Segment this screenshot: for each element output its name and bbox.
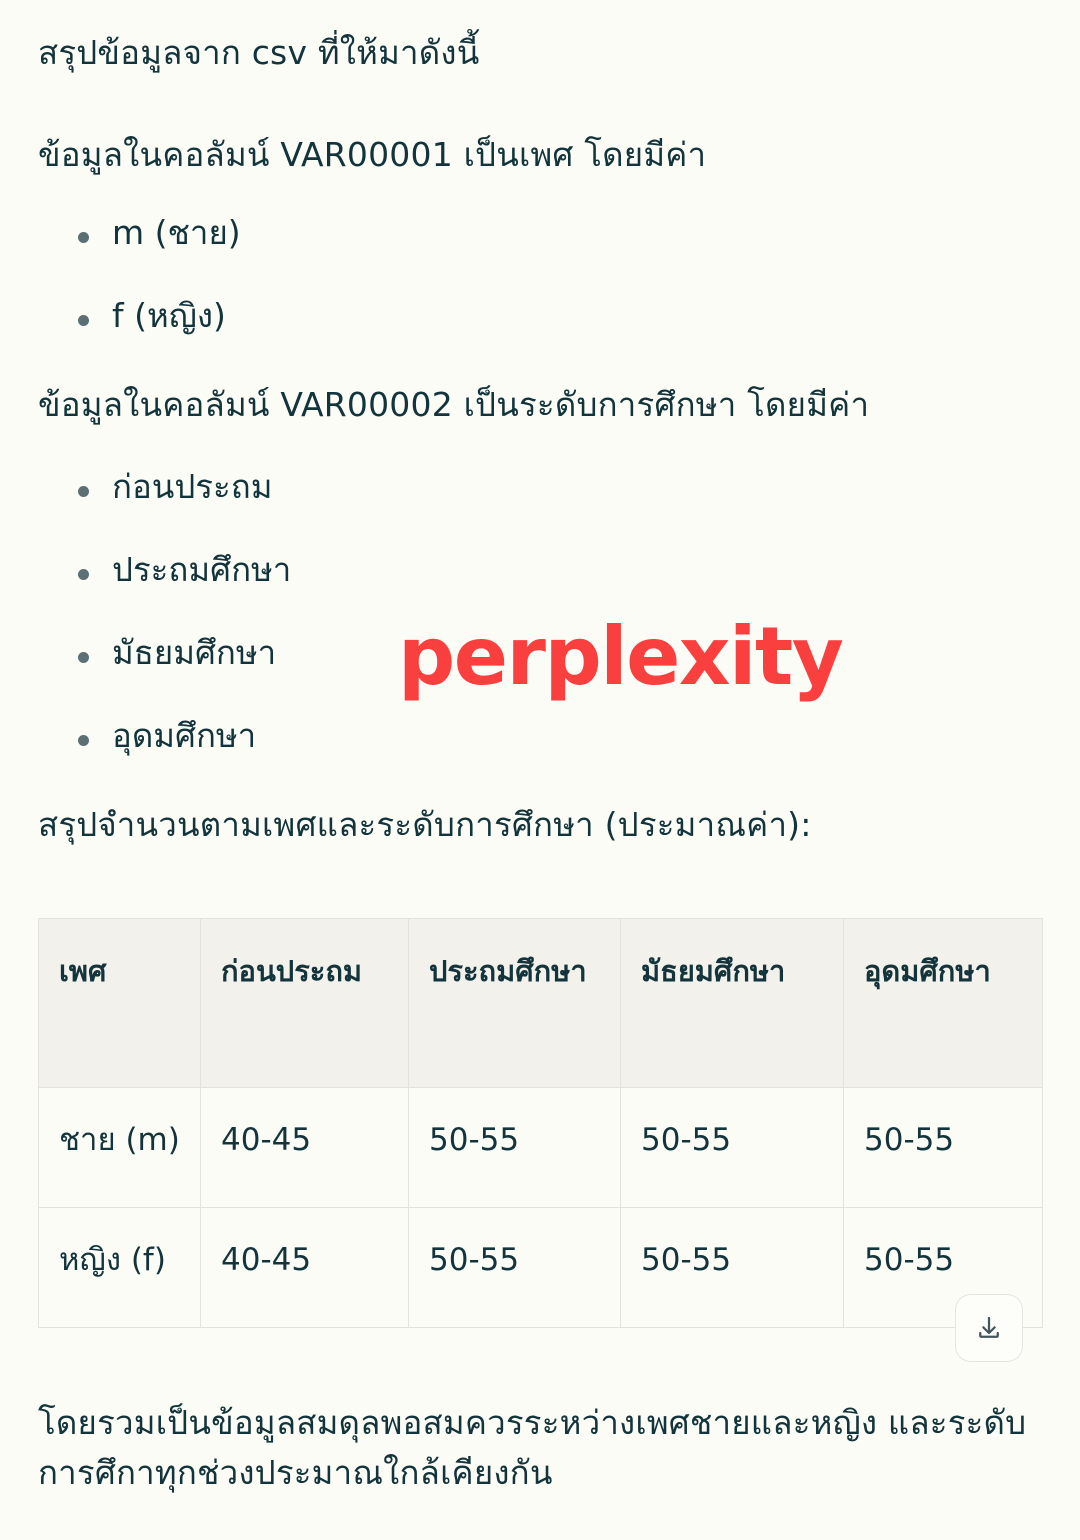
education-values-list: ก่อนประถม ประถมศึกษา มัธยมศึกษา อุดมศึกษ… (38, 466, 291, 798)
cell-gender: ชาย (m) (39, 1088, 201, 1208)
cell-secondary: 50-55 (621, 1207, 844, 1327)
cell-tertiary: 50-55 (844, 1088, 1043, 1208)
list-item: m (ชาย) (38, 212, 241, 255)
column-header-preprimary: ก่อนประถม (201, 919, 409, 1088)
list-item: อุดมศึกษา (38, 715, 291, 758)
table-row: หญิง (f) 40-45 50-55 50-55 50-55 (39, 1207, 1043, 1327)
table-body: ชาย (m) 40-45 50-55 50-55 50-55 หญิง (f)… (39, 1088, 1043, 1328)
cell-gender: หญิง (f) (39, 1207, 201, 1327)
var00001-description: ข้อมูลในคอลัมน์ VAR00001 เป็นเพศ โดยมีค่… (38, 132, 1038, 179)
column-header-secondary: มัธยมศึกษา (621, 919, 844, 1088)
var00002-description: ข้อมูลในคอลัมน์ VAR00002 เป็นระดับการศึก… (38, 382, 1038, 429)
list-item: มัธยมศึกษา (38, 632, 291, 675)
column-header-primary: ประถมศึกษา (409, 919, 621, 1088)
cell-preprimary: 40-45 (201, 1088, 409, 1208)
gender-values-list: m (ชาย) f (หญิง) (38, 212, 241, 378)
list-item: ก่อนประถม (38, 466, 291, 509)
table-header-row: เพศ ก่อนประถม ประถมศึกษา มัธยมศึกษา อุดม… (39, 919, 1043, 1088)
table-row: ชาย (m) 40-45 50-55 50-55 50-55 (39, 1088, 1043, 1208)
closing-paragraph: โดยรวมเป็นข้อมูลสมดุลพอสมควรระหว่างเพศชา… (38, 1398, 1048, 1497)
cell-primary: 50-55 (409, 1207, 621, 1327)
list-item: ประถมศึกษา (38, 549, 291, 592)
cell-primary: 50-55 (409, 1088, 621, 1208)
document-page: สรุปข้อมูลจาก csv ที่ให้มาดังนี้ ข้อมูลใ… (0, 0, 1080, 1540)
download-icon (974, 1313, 1004, 1343)
cell-secondary: 50-55 (621, 1088, 844, 1208)
summary-caption: สรุปจำนวนตามเพศและระดับการศึกษา (ประมาณค… (38, 802, 1038, 849)
column-header-tertiary: อุดมศึกษา (844, 919, 1043, 1088)
column-header-gender: เพศ (39, 919, 201, 1088)
perplexity-watermark: perplexity (398, 617, 842, 697)
table-header: เพศ ก่อนประถม ประถมศึกษา มัธยมศึกษา อุดม… (39, 919, 1043, 1088)
cell-preprimary: 40-45 (201, 1207, 409, 1327)
intro-paragraph: สรุปข้อมูลจาก csv ที่ให้มาดังนี้ (38, 30, 1038, 77)
summary-table: เพศ ก่อนประถม ประถมศึกษา มัธยมศึกษา อุดม… (38, 918, 1043, 1328)
summary-table-container: เพศ ก่อนประถม ประถมศึกษา มัธยมศึกษา อุดม… (38, 918, 1042, 1328)
list-item: f (หญิง) (38, 295, 241, 338)
download-table-button[interactable] (955, 1294, 1023, 1362)
